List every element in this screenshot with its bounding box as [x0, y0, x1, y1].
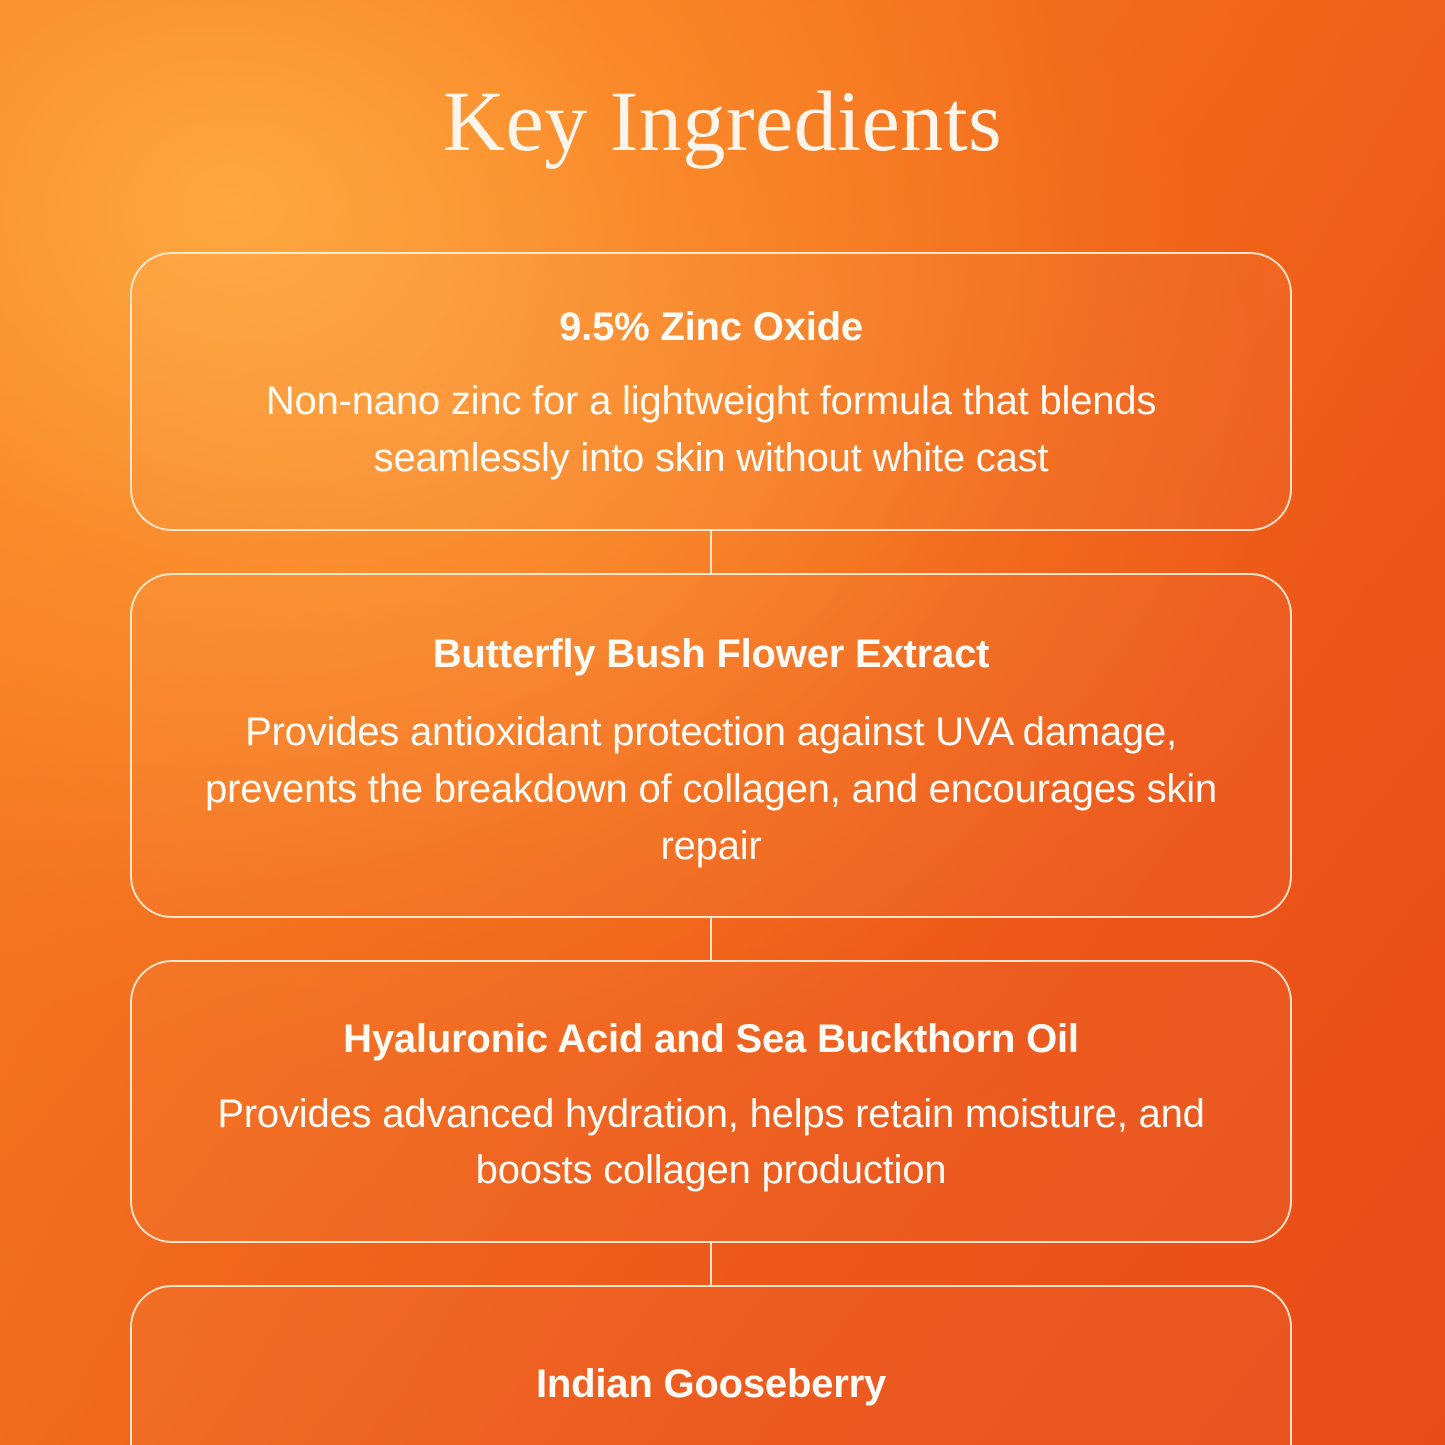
ingredient-card-butterfly-bush-flower-extract: Butterfly Bush Flower Extract Provides a… — [130, 573, 1292, 919]
ingredient-title: Indian Gooseberry — [176, 1361, 1246, 1408]
card-connector-line — [710, 916, 712, 960]
key-ingredients-infographic: Key Ingredients 9.5% Zinc Oxide Non-nano… — [0, 0, 1445, 1445]
ingredient-description: Provides antioxidant protection against … — [176, 704, 1246, 874]
ingredient-title: 9.5% Zinc Oxide — [176, 304, 1246, 351]
page-title: Key Ingredients — [0, 78, 1445, 164]
ingredient-title: Butterfly Bush Flower Extract — [176, 631, 1246, 678]
ingredient-card-zinc-oxide: 9.5% Zinc Oxide Non-nano zinc for a ligh… — [130, 252, 1292, 531]
ingredient-description: Provides advanced hydration, helps retai… — [176, 1086, 1246, 1200]
ingredient-title: Hyaluronic Acid and Sea Buckthorn Oil — [176, 1016, 1246, 1063]
card-connector-line — [710, 1241, 712, 1285]
ingredient-card-stack: 9.5% Zinc Oxide Non-nano zinc for a ligh… — [130, 252, 1292, 1445]
card-connector-line — [710, 529, 712, 573]
ingredient-card-indian-gooseberry: Indian Gooseberry Helps to re-establish … — [130, 1285, 1292, 1445]
ingredient-description: Non-nano zinc for a lightweight formula … — [176, 373, 1246, 487]
ingredient-card-hyaluronic-acid-sea-buckthorn-oil: Hyaluronic Acid and Sea Buckthorn Oil Pr… — [130, 960, 1292, 1243]
